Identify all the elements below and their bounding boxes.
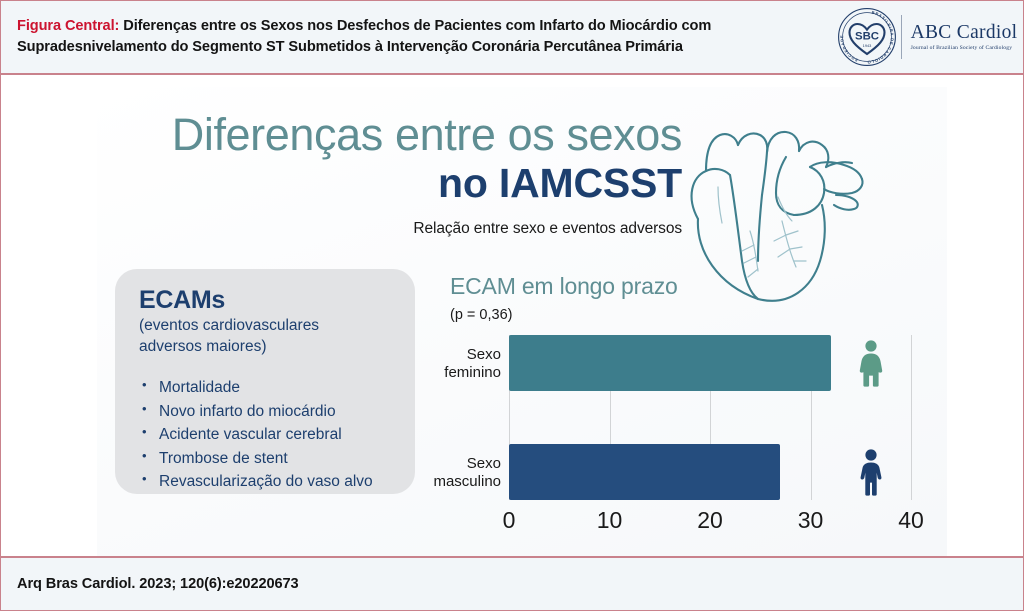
figure-canvas: Diferenças entre os sexos no IAMCSST Rel… (2, 77, 1023, 556)
svg-text:SBC: SBC (855, 30, 879, 42)
header-lede: Figura Central: (17, 18, 119, 34)
chart-x-tick-label: 0 (503, 507, 516, 534)
ecams-panel: ECAMs (eventos cardiovasculares adversos… (115, 269, 415, 494)
citation-text: Arq Bras Cardiol. 2023; 120(6):e20220673 (1, 576, 299, 592)
header-title: Figura Central: Diferenças entre os Sexo… (1, 16, 831, 58)
female-person-icon (856, 339, 886, 387)
journal-wordmark: ABC Cardiol Journal of Brazilian Society… (911, 23, 1018, 52)
ecams-list: Mortalidade Novo infarto do miocárdio Ac… (139, 376, 399, 494)
hero-title-line2: no IAMCSST (122, 161, 682, 206)
chart-title: ECAM em longo prazo (450, 273, 678, 300)
chart-category-label-line: Sexo (381, 455, 501, 473)
figure-footer: Arq Bras Cardiol. 2023; 120(6):e20220673 (1, 556, 1023, 610)
sbc-seal-icon: SBC 1943 BRASILEIRA DE CARDIOLOGIA SOCIE… (837, 7, 897, 67)
list-item: Trombose de stent (139, 447, 399, 471)
journal-name: ABC Cardiol (911, 23, 1018, 43)
central-figure-panel: Figura Central: Diferenças entre os Sexo… (0, 0, 1024, 611)
chart-pvalue-annotation: (p = 0,36) (450, 307, 512, 323)
list-item: Revascularização do vaso alvo (139, 470, 399, 494)
ecams-expansion-line2: adversos maiores) (139, 337, 399, 358)
chart-category-label-line: masculino (381, 473, 501, 491)
ecams-expansion-line1: (eventos cardiovasculares (139, 316, 399, 337)
chart-category-label: Sexomasculino (381, 455, 501, 490)
ecams-expansion: (eventos cardiovasculares adversos maior… (139, 316, 399, 358)
journal-tagline: Journal of Brazilian Society of Cardiolo… (911, 45, 1018, 51)
chart-category-label-line: feminino (381, 364, 501, 382)
chart-x-tick-label: 40 (898, 507, 924, 534)
figure-header: Figura Central: Diferenças entre os Sexo… (1, 1, 1023, 75)
svg-text:1943: 1943 (862, 43, 871, 48)
bar-female (509, 335, 831, 391)
hero-title-line1: Diferenças entre os sexos (122, 111, 682, 159)
logo-divider (901, 15, 902, 59)
male-person-icon (856, 448, 886, 496)
chart-x-tick-label: 20 (697, 507, 723, 534)
ecam-bar-chart: ECAM em longo prazo (p = 0,36) Sexofemin… (432, 273, 952, 537)
chart-x-tick-label: 10 (597, 507, 623, 534)
hero-title-block: Diferenças entre os sexos no IAMCSST Rel… (122, 111, 682, 238)
list-item: Mortalidade (139, 376, 399, 400)
list-item: Novo infarto do miocárdio (139, 400, 399, 424)
chart-category-label-line: Sexo (381, 346, 501, 364)
ecams-title: ECAMs (139, 287, 399, 313)
list-item: Acidente vascular cerebral (139, 423, 399, 447)
chart-plot-area: SexofemininoSexomasculino010203040 (432, 335, 952, 500)
chart-x-tick-label: 30 (798, 507, 824, 534)
header-title-rest: Diferenças entre os Sexos nos Desfechos … (17, 18, 711, 55)
bar-male (509, 444, 780, 500)
journal-logo: SBC 1943 BRASILEIRA DE CARDIOLOGIA SOCIE… (831, 1, 1023, 73)
chart-gridline (911, 335, 912, 500)
hero-subtitle: Relação entre sexo e eventos adversos (122, 220, 682, 238)
chart-category-label: Sexofeminino (381, 346, 501, 381)
